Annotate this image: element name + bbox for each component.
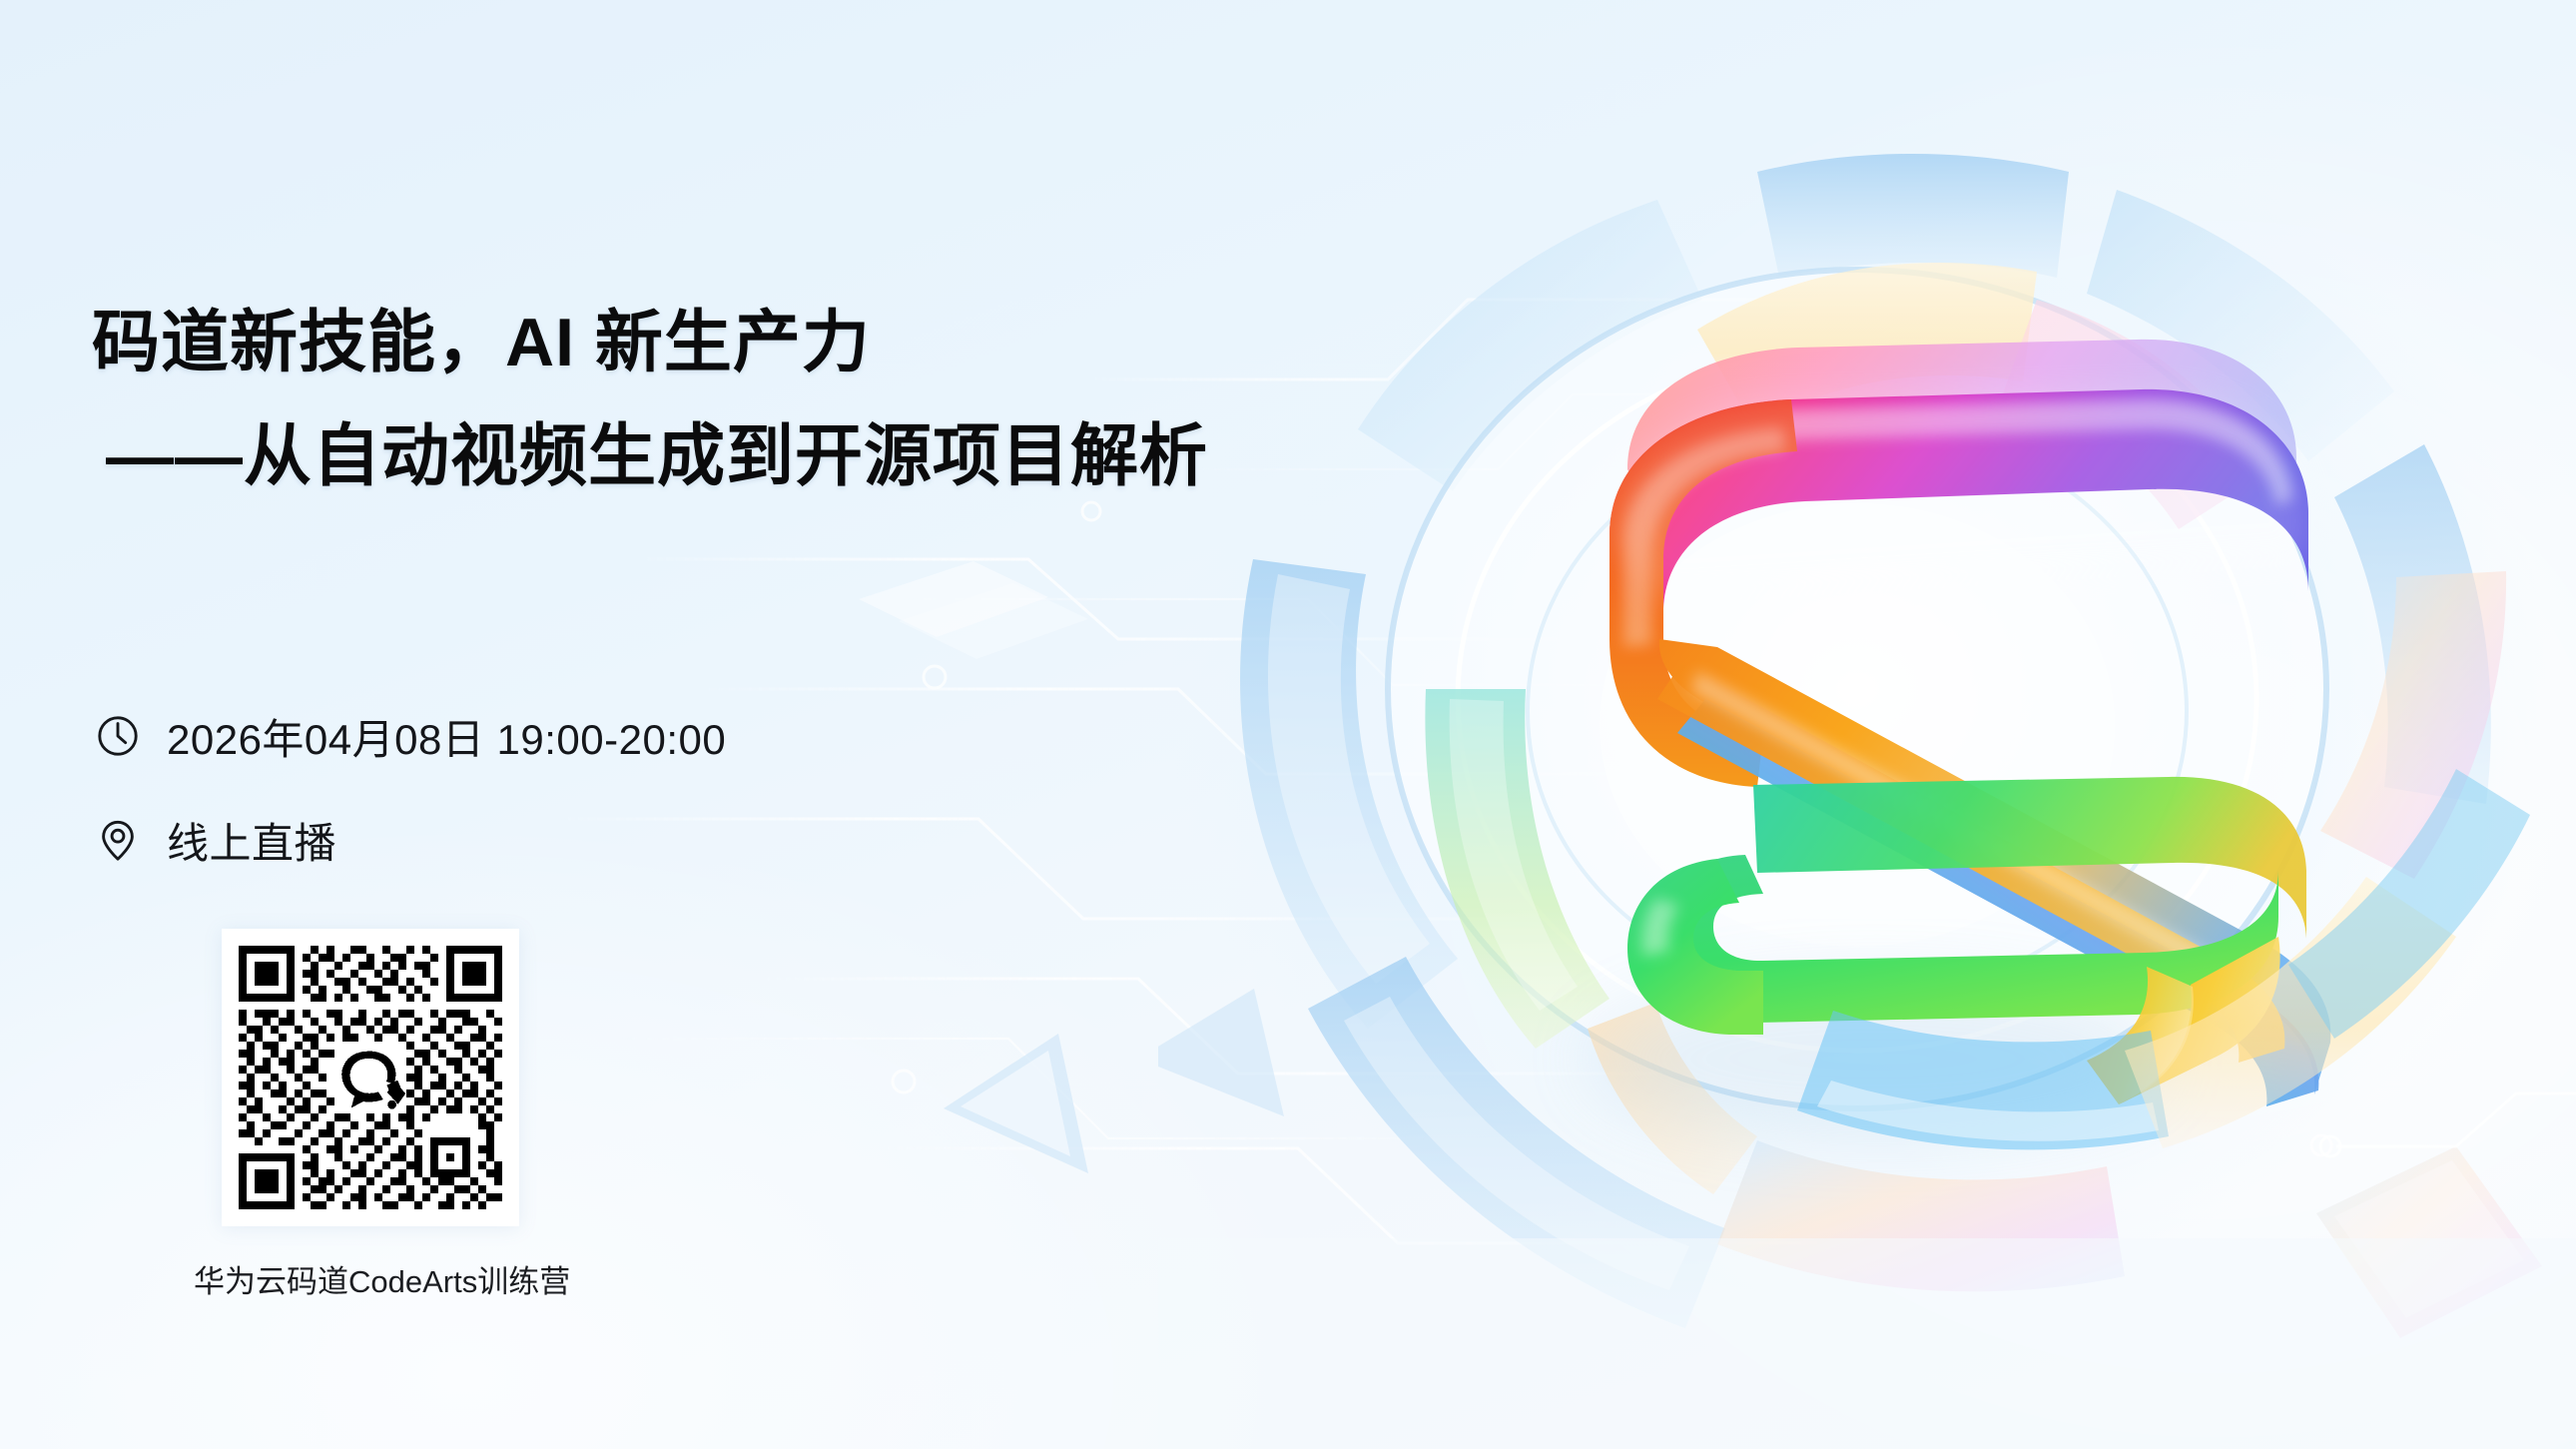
location-pin-icon [95, 817, 141, 863]
page-title-line-2: ——从自动视频生成到开源项目解析 [92, 413, 1270, 499]
event-meta: 2026年04月08日 19:00-20:00 线上直播 [95, 705, 726, 871]
event-location-text: 线上直播 [167, 810, 336, 871]
event-time-row: 2026年04月08日 19:00-20:00 [95, 705, 726, 767]
page-title-line-1: 码道新技能，AI 新生产力 [92, 300, 1270, 385]
qr-caption: 华为云码道CodeArts训练营 [194, 1256, 491, 1301]
codearts-3d-graphic [1158, 0, 2576, 1449]
clock-icon [95, 713, 141, 759]
event-location-row: 线上直播 [95, 809, 726, 871]
title-block: 码道新技能，AI 新生产力 ——从自动视频生成到开源项目解析 [92, 300, 1270, 499]
content-column: 码道新技能，AI 新生产力 ——从自动视频生成到开源项目解析 2026年04月0… [0, 0, 1298, 1449]
event-time-text: 2026年04月08日 19:00-20:00 [167, 706, 726, 767]
poster-root: 码道新技能，AI 新生产力 ——从自动视频生成到开源项目解析 2026年04月0… [0, 0, 2576, 1449]
qr-card[interactable] [222, 929, 519, 1226]
qr-block: 华为云码道CodeArts训练营 [222, 929, 519, 1301]
qr-code-icon[interactable] [239, 946, 502, 1209]
